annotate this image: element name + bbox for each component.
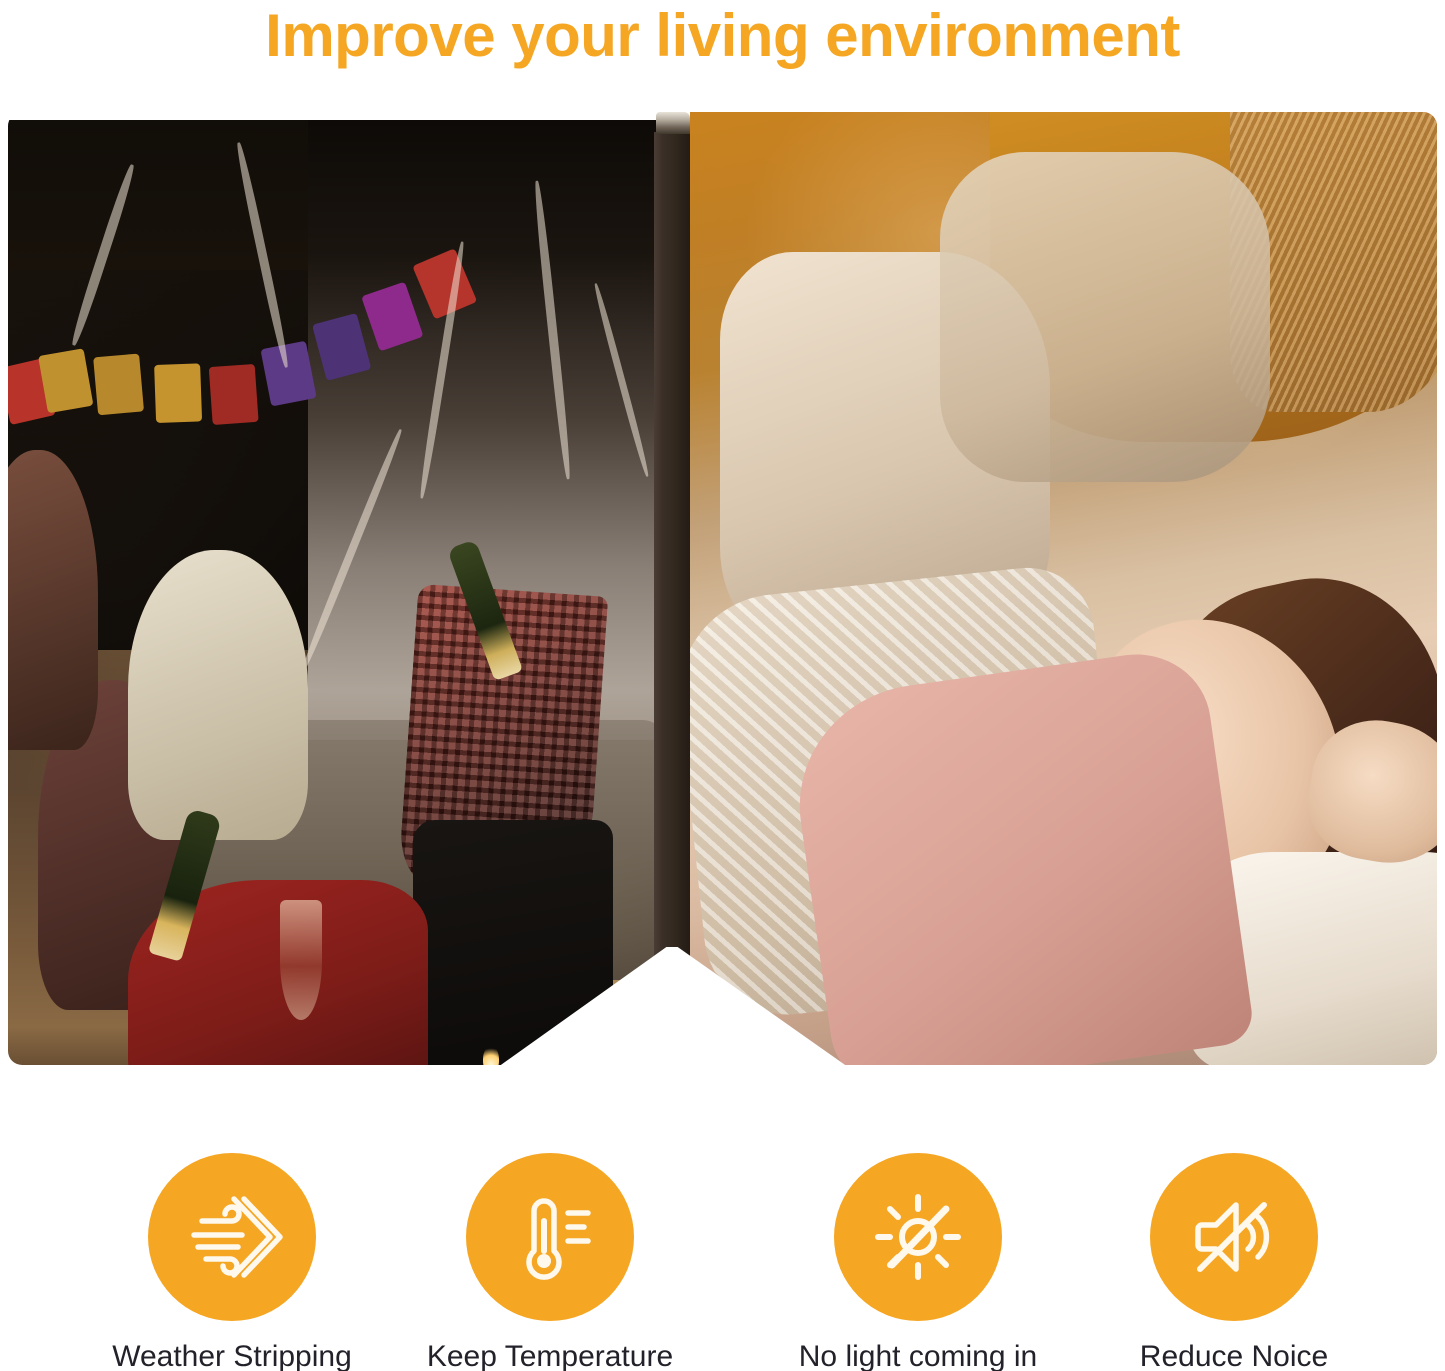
feature-icon-circle — [148, 1153, 316, 1321]
door-edge-cap — [656, 112, 690, 134]
feature-label: Reduce Noice — [1084, 1339, 1384, 1371]
door-edge-divider — [654, 132, 690, 1065]
product-feature-page: Improve your living environment — [0, 0, 1445, 1371]
feature-item-reduce-noise[interactable]: Reduce Noice — [1084, 1150, 1384, 1371]
page-title: Improve your living environment — [0, 2, 1445, 70]
feature-label: Weather Stripping — [82, 1339, 382, 1371]
thermometer-icon — [498, 1185, 602, 1289]
wind-flow-arrow-icon — [180, 1185, 284, 1289]
feature-label: Keep Temperature — [400, 1339, 700, 1371]
feature-item-keep-temperature[interactable]: Keep Temperature — [400, 1150, 700, 1371]
feature-label: No light coming in — [768, 1339, 1068, 1371]
hero-image-block — [8, 112, 1437, 1065]
feature-item-weather-stripping[interactable]: Weather Stripping — [82, 1150, 382, 1371]
feature-icon-circle — [1150, 1153, 1318, 1321]
speaker-muted-icon — [1182, 1185, 1286, 1289]
new-year-party-photo — [8, 120, 668, 1065]
feature-item-no-light[interactable]: No light coming in — [768, 1150, 1068, 1371]
feature-icon-circle — [466, 1153, 634, 1321]
feature-icon-circle — [834, 1153, 1002, 1321]
feature-row: Weather Stripping Keep Temperature — [0, 1150, 1445, 1371]
sun-slashed-icon — [866, 1185, 970, 1289]
sleeping-child-photo — [690, 112, 1437, 1065]
